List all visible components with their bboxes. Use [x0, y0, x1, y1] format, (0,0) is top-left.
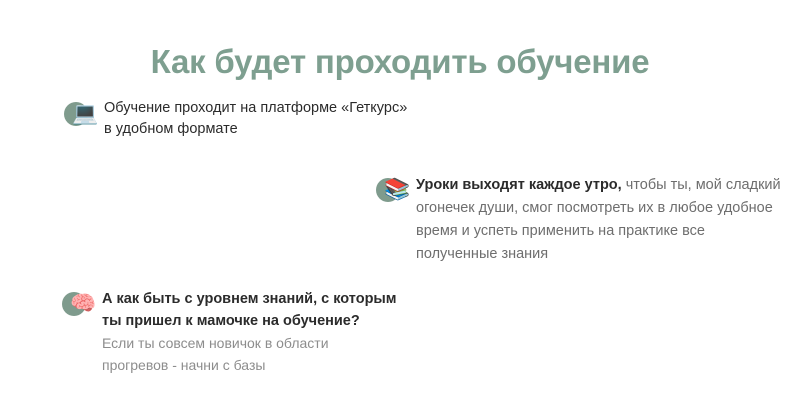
- feature-line: Уроки выходят каждое утро, чтобы ты, мой…: [416, 174, 786, 197]
- feature-text-lessons: Уроки выходят каждое утро, чтобы ты, мой…: [416, 174, 786, 266]
- feature-item-level: 🧠 А как быть с уровнем знаний, с которым…: [62, 288, 462, 376]
- feature-line: Обучение проходит на платформе «Геткурс»: [104, 98, 484, 119]
- feature-item-lessons: 📚 Уроки выходят каждое утро, чтобы ты, м…: [376, 174, 786, 266]
- feature-sub-line: Если ты совсем новичок в области: [102, 332, 462, 354]
- feature-line: время и успеть применить на практике все: [416, 220, 786, 243]
- feature-sub-line: прогревов - начни с базы: [102, 354, 462, 376]
- feature-lead-in: Уроки выходят каждое утро,: [416, 177, 622, 193]
- feature-line-continuation: чтобы ты, мой сладкий: [622, 177, 781, 193]
- laptop-icon-glyph: 💻: [72, 99, 98, 127]
- books-icon-glyph: 📚: [384, 175, 410, 203]
- feature-line: огонечек души, смог посмотреть их в любо…: [416, 197, 786, 220]
- feature-line: в удобном формате: [104, 119, 484, 140]
- feature-heading-line: А как быть с уровнем знаний, с которым: [102, 288, 462, 310]
- feature-item-platform: 💻 Обучение проходит на платформе «Геткур…: [64, 98, 484, 140]
- feature-subtext-level: Если ты совсем новичок в области прогрев…: [102, 332, 462, 376]
- brain-icon-glyph: 🧠: [70, 289, 96, 317]
- laptop-icon: 💻: [64, 99, 104, 131]
- feature-text-level: А как быть с уровнем знаний, с которым т…: [102, 288, 462, 376]
- feature-heading-line: ты пришел к мамочке на обучение?: [102, 310, 462, 332]
- feature-text-platform: Обучение проходит на платформе «Геткурс»…: [104, 98, 484, 140]
- brain-icon: 🧠: [62, 289, 102, 321]
- feature-line: полученные знания: [416, 243, 786, 266]
- books-icon: 📚: [376, 175, 416, 207]
- landing-section: Как будет проходить обучение 💻 Обучение …: [0, 0, 800, 414]
- page-title: Как будет проходить обучение: [0, 40, 800, 84]
